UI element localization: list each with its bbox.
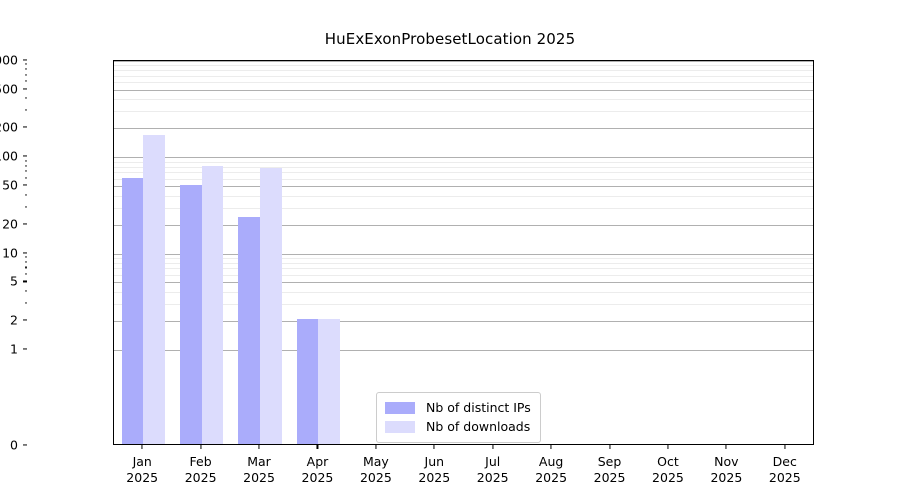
x-tick-label-dec: Dec2025	[769, 454, 801, 486]
y-tick-mark	[23, 223, 27, 224]
x-tick-mark	[375, 445, 376, 449]
x-tick-month: Jun	[418, 454, 450, 470]
y-tick-mark	[23, 88, 27, 89]
bar-ips-jan	[122, 178, 144, 444]
y-tick-mark-minor	[25, 110, 28, 111]
bar-dls-apr	[318, 319, 340, 444]
x-tick-year: 2025	[477, 470, 509, 486]
y-tick-mark-minor	[25, 261, 28, 262]
x-tick-month: May	[360, 454, 392, 470]
x-tick-label-nov: Nov2025	[710, 454, 742, 486]
x-tick-label-may: May2025	[360, 454, 392, 486]
y-tick-mark-minor	[25, 267, 28, 268]
x-tick-month: Dec	[769, 454, 801, 470]
x-tick-mark	[258, 445, 259, 449]
bar-ips-feb	[180, 185, 202, 444]
x-tick-year: 2025	[594, 470, 626, 486]
y-tick-label: 5	[10, 274, 18, 289]
y-tick-mark	[23, 156, 27, 157]
x-tick-month: Feb	[185, 454, 217, 470]
y-tick-mark	[23, 444, 27, 445]
bars-layer	[114, 61, 813, 444]
y-tick-label: 200	[0, 120, 18, 135]
y-tick-mark	[23, 348, 27, 349]
x-tick-month: Nov	[710, 454, 742, 470]
y-tick-mark	[23, 127, 27, 128]
y-tick-mark-minor	[25, 273, 28, 274]
y-tick-mark-minor	[25, 302, 28, 303]
chart-figure: HuExExonProbesetLocation 2025 0125102050…	[0, 0, 900, 500]
x-tick-label-mar: Mar2025	[243, 454, 275, 486]
x-tick-year: 2025	[418, 470, 450, 486]
x-tick-mark	[200, 445, 201, 449]
x-tick-month: Oct	[652, 454, 684, 470]
y-tick-label: 500	[0, 81, 18, 96]
x-tick-mark	[726, 445, 727, 449]
chart-legend: Nb of distinct IPsNb of downloads	[376, 392, 541, 443]
y-tick-mark	[23, 252, 27, 253]
y-tick-mark-minor	[25, 171, 28, 172]
x-tick-year: 2025	[360, 470, 392, 486]
x-tick-month: Jul	[477, 454, 509, 470]
x-tick-label-jan: Jan2025	[126, 454, 158, 486]
y-tick-label: 20	[2, 216, 18, 231]
y-tick-label: 10	[2, 245, 18, 260]
x-tick-month: Aug	[535, 454, 567, 470]
legend-swatch	[385, 402, 415, 414]
y-tick-mark-minor	[25, 74, 28, 75]
y-tick-label: 0	[10, 438, 18, 453]
x-tick-mark	[434, 445, 435, 449]
y-tick-mark-minor	[25, 160, 28, 161]
x-tick-mark	[492, 445, 493, 449]
x-tick-year: 2025	[769, 470, 801, 486]
x-tick-year: 2025	[652, 470, 684, 486]
x-tick-label-feb: Feb2025	[185, 454, 217, 486]
x-tick-year: 2025	[302, 470, 334, 486]
legend-label: Nb of downloads	[426, 419, 530, 434]
bar-ips-apr	[297, 319, 319, 444]
y-tick-label: 100	[0, 149, 18, 164]
bar-ips-mar	[238, 217, 260, 444]
y-tick-label: 1000	[0, 53, 18, 68]
y-tick-mark-minor	[25, 290, 28, 291]
x-tick-year: 2025	[185, 470, 217, 486]
bar-dls-jan	[143, 135, 165, 444]
y-tick-label: 50	[2, 178, 18, 193]
y-tick-label: 1	[10, 341, 18, 356]
y-tick-mark	[23, 185, 27, 186]
x-tick-month: Mar	[243, 454, 275, 470]
x-tick-mark	[317, 445, 318, 449]
y-tick-mark	[23, 281, 27, 282]
x-tick-mark	[784, 445, 785, 449]
x-tick-label-sep: Sep2025	[594, 454, 626, 486]
x-tick-label-jun: Jun2025	[418, 454, 450, 486]
bar-dls-feb	[202, 166, 224, 444]
x-tick-year: 2025	[243, 470, 275, 486]
y-axis: 01251020501002005001000	[0, 0, 113, 500]
x-tick-label-apr: Apr2025	[302, 454, 334, 486]
y-tick-mark-minor	[25, 69, 28, 70]
x-tick-label-jul: Jul2025	[477, 454, 509, 486]
x-tick-mark	[609, 445, 610, 449]
x-tick-year: 2025	[126, 470, 158, 486]
x-axis: Jan2025Feb2025Mar2025Apr2025May2025Jun20…	[113, 445, 814, 500]
legend-label: Nb of distinct IPs	[426, 400, 531, 415]
x-tick-label-oct: Oct2025	[652, 454, 684, 486]
y-tick-mark-minor	[25, 206, 28, 207]
x-tick-month: Sep	[594, 454, 626, 470]
y-tick-mark-minor	[25, 64, 28, 65]
y-tick-mark-minor	[25, 98, 28, 99]
y-tick-mark-minor	[25, 256, 28, 257]
y-tick-mark	[23, 319, 27, 320]
x-tick-mark	[551, 445, 552, 449]
y-tick-mark-minor	[25, 194, 28, 195]
x-tick-mark	[142, 445, 143, 449]
x-tick-month: Apr	[302, 454, 334, 470]
y-tick-mark	[23, 59, 27, 60]
x-tick-year: 2025	[710, 470, 742, 486]
bar-dls-mar	[260, 168, 282, 444]
chart-title: HuExExonProbesetLocation 2025	[0, 30, 900, 48]
x-tick-year: 2025	[535, 470, 567, 486]
y-tick-label: 2	[10, 312, 18, 327]
x-tick-month: Jan	[126, 454, 158, 470]
y-tick-mark-minor	[25, 177, 28, 178]
plot-area	[113, 60, 814, 445]
legend-item: Nb of downloads	[385, 417, 531, 436]
x-tick-mark	[667, 445, 668, 449]
legend-item: Nb of distinct IPs	[385, 398, 531, 417]
x-tick-label-aug: Aug2025	[535, 454, 567, 486]
y-tick-mark-minor	[25, 165, 28, 166]
y-tick-mark-minor	[25, 81, 28, 82]
legend-swatch	[385, 421, 415, 433]
